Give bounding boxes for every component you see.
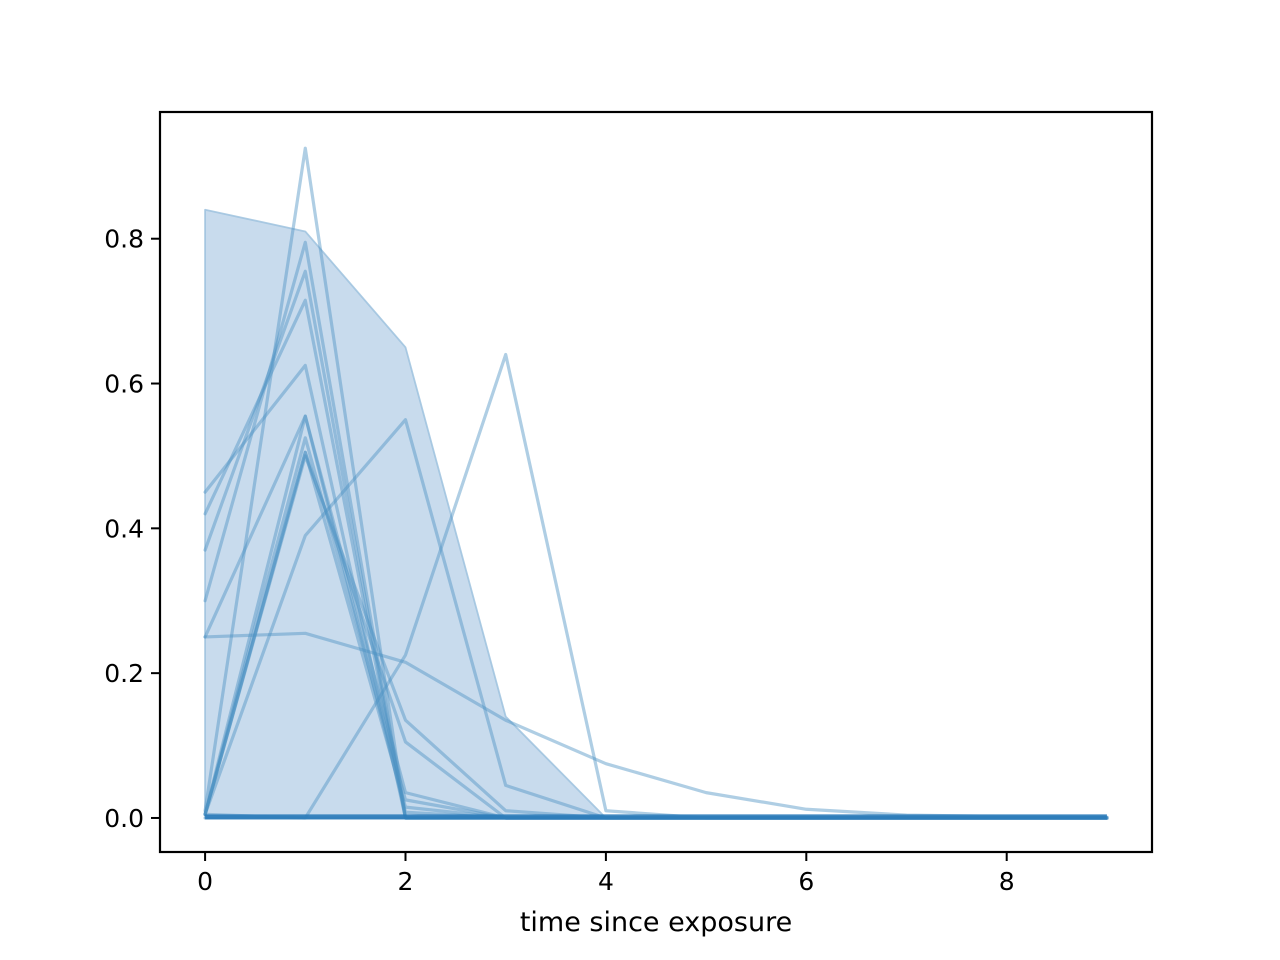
- y-tick-label: 0.0: [104, 804, 144, 833]
- x-tick-label: 0: [197, 867, 213, 896]
- y-tick-label: 0.2: [104, 659, 144, 688]
- x-axis-title: time since exposure: [520, 907, 792, 938]
- chart-plot: 02468 0.00.20.40.60.8 time since exposur…: [0, 0, 1280, 960]
- y-tick-label: 0.4: [104, 514, 144, 543]
- x-tick-label: 6: [798, 867, 814, 896]
- figure-canvas: 02468 0.00.20.40.60.8 time since exposur…: [0, 0, 1280, 960]
- y-tick-label: 0.6: [104, 370, 144, 399]
- x-tick-label: 4: [598, 867, 614, 896]
- y-tick-label: 0.8: [104, 225, 144, 254]
- x-tick-label: 2: [398, 867, 414, 896]
- x-tick-label: 8: [999, 867, 1015, 896]
